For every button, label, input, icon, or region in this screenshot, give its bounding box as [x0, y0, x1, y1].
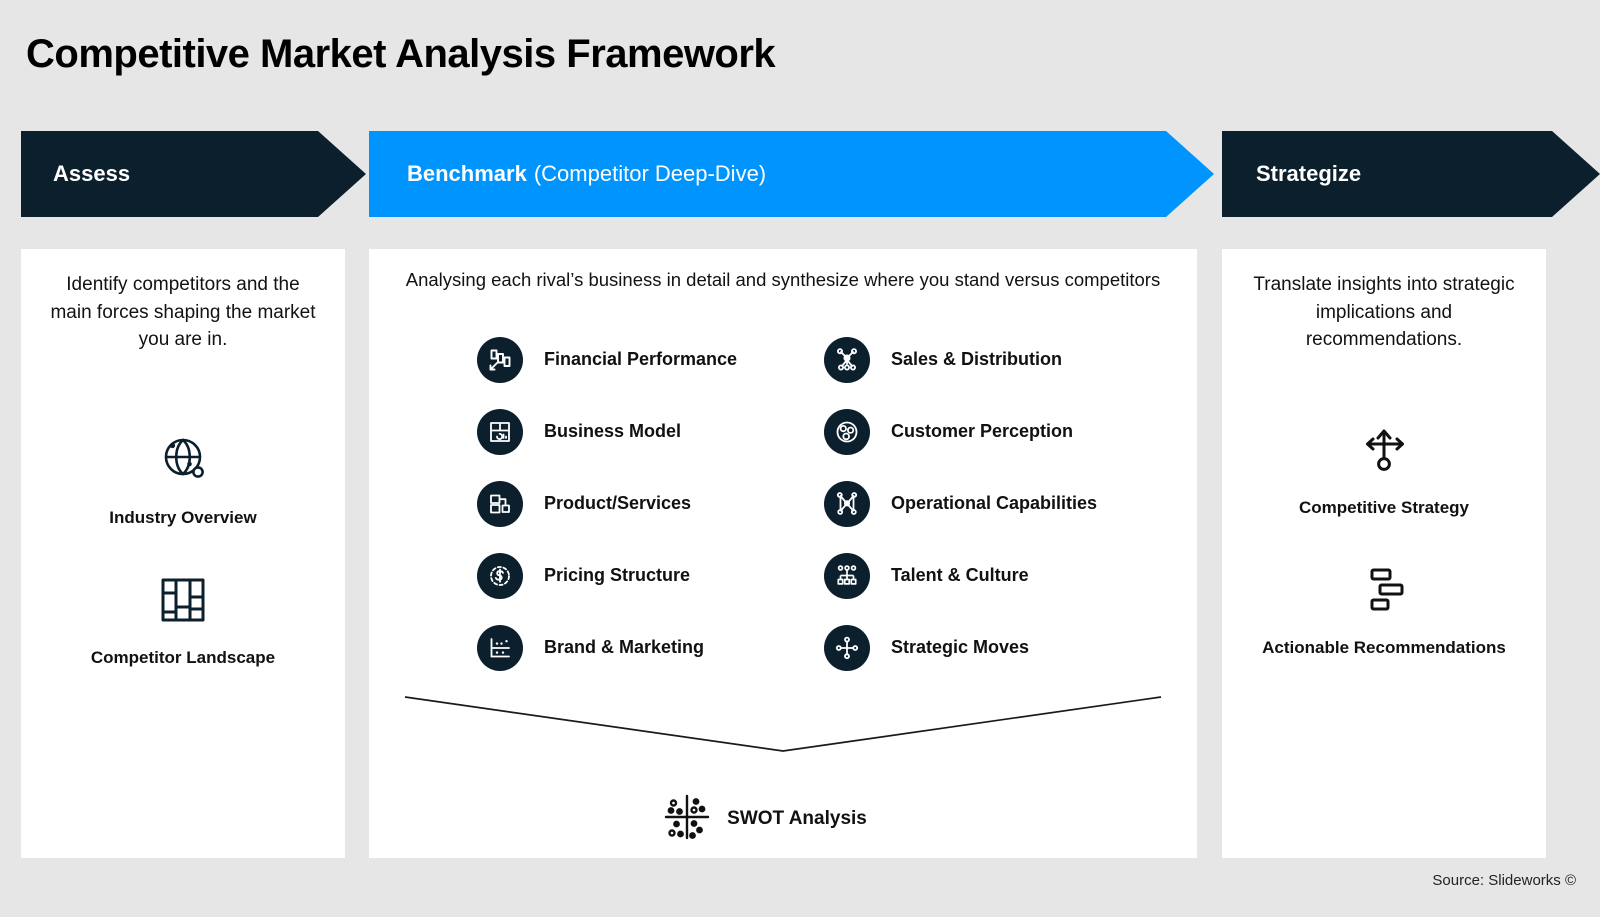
panel-benchmark: Analysing each rival’s business in detai… — [369, 249, 1197, 858]
benchmark-intro-text: Analysing each rival’s business in detai… — [395, 267, 1171, 293]
benchmark-label: Brand & Marketing — [544, 637, 704, 658]
benchmark-label: Talent & Culture — [891, 565, 1029, 586]
org-chart-icon — [824, 553, 870, 599]
bar-chart-arrow-icon — [477, 337, 523, 383]
crossed-nodes-icon — [824, 481, 870, 527]
funnel-connector — [395, 695, 1171, 765]
chevron-benchmark[interactable]: Benchmark (Competitor Deep-Dive) — [369, 131, 1214, 217]
benchmark-label: Product/Services — [544, 493, 691, 514]
benchmark-label: Business Model — [544, 421, 681, 442]
chevron-benchmark-sublabel: (Competitor Deep-Dive) — [534, 161, 766, 187]
feature-industry-overview-label: Industry Overview — [109, 507, 256, 528]
source-note: Source: Slideworks © — [1432, 872, 1576, 889]
feature-competitor-landscape[interactable]: Competitor Landscape — [45, 574, 321, 668]
benchmark-item-strategic-moves[interactable]: Strategic Moves — [824, 625, 1153, 671]
benchmark-item-talent-culture[interactable]: Talent & Culture — [824, 553, 1153, 599]
billboard-dots-icon — [477, 625, 523, 671]
benchmark-label: Financial Performance — [544, 349, 737, 370]
grid-layout-icon — [157, 574, 209, 631]
benchmark-label: Customer Perception — [891, 421, 1073, 442]
feature-actionable-recommendations[interactable]: Actionable Recommendations — [1246, 564, 1522, 658]
assess-intro-text: Identify competitors and the main forces… — [45, 271, 321, 354]
network-nodes-icon — [824, 337, 870, 383]
node-split-icon — [824, 625, 870, 671]
benchmark-item-product-services[interactable]: Product/Services — [477, 481, 806, 527]
benchmark-item-pricing-structure[interactable]: Pricing Structure — [477, 553, 806, 599]
swot-analysis-label: SWOT Analysis — [727, 808, 867, 830]
feature-competitor-landscape-label: Competitor Landscape — [91, 647, 275, 668]
benchmark-label: Strategic Moves — [891, 637, 1029, 658]
chevron-assess[interactable]: Assess — [21, 131, 366, 217]
gantt-bars-icon — [1356, 564, 1412, 621]
benchmark-label: Pricing Structure — [544, 565, 690, 586]
people-circle-icon — [824, 409, 870, 455]
benchmark-item-financial-performance[interactable]: Financial Performance — [477, 337, 806, 383]
panel-assess: Identify competitors and the main forces… — [21, 249, 345, 858]
swot-analysis-row[interactable]: SWOT Analysis — [395, 789, 1171, 850]
dollar-coin-icon — [477, 553, 523, 599]
feature-competitive-strategy-label: Competitive Strategy — [1299, 497, 1469, 518]
benchmark-item-customer-perception[interactable]: Customer Perception — [824, 409, 1153, 455]
dashboard-panel-icon — [477, 409, 523, 455]
chevron-strategize[interactable]: Strategize — [1222, 131, 1600, 217]
feature-industry-overview[interactable]: Industry Overview — [45, 428, 321, 528]
benchmark-label: Operational Capabilities — [891, 493, 1097, 514]
phase-chevron-band: Assess Benchmark (Competitor Deep-Dive) … — [0, 131, 1600, 217]
globe-network-icon — [154, 428, 212, 491]
product-blocks-icon — [477, 481, 523, 527]
multi-direction-arrows-icon — [1356, 420, 1412, 481]
feature-competitive-strategy[interactable]: Competitive Strategy — [1246, 420, 1522, 518]
benchmark-label: Sales & Distribution — [891, 349, 1062, 370]
benchmark-item-operational-capabilities[interactable]: Operational Capabilities — [824, 481, 1153, 527]
feature-actionable-recommendations-label: Actionable Recommendations — [1262, 637, 1506, 658]
swot-quadrant-icon — [659, 789, 715, 850]
panel-strategize: Translate insights into strategic implic… — [1222, 249, 1546, 858]
benchmark-item-sales-distribution[interactable]: Sales & Distribution — [824, 337, 1153, 383]
chevron-strategize-label: Strategize — [1256, 161, 1361, 187]
strategize-intro-text: Translate insights into strategic implic… — [1246, 271, 1522, 354]
benchmark-item-grid: Financial Performance Sales & Distributi… — [395, 337, 1171, 671]
chevron-assess-label: Assess — [53, 161, 130, 187]
chevron-benchmark-label: Benchmark — [407, 161, 527, 187]
page-title: Competitive Market Analysis Framework — [26, 32, 775, 76]
benchmark-item-brand-marketing[interactable]: Brand & Marketing — [477, 625, 806, 671]
benchmark-item-business-model[interactable]: Business Model — [477, 409, 806, 455]
